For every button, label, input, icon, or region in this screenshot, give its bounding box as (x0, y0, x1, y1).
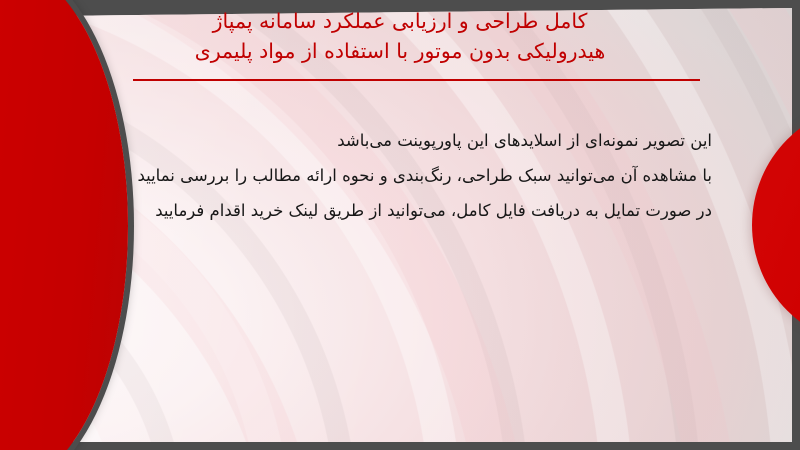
body-line-2: با مشاهده آن می‌توانید سبک طراحی، رنگ‌بن… (72, 158, 712, 193)
slide-title: کامل طراحی و ارزیابی عملکرد سامانه پمپاژ… (0, 6, 800, 66)
slide-title-line-2: هیدرولیکی بدون موتور با استفاده از مواد … (0, 36, 800, 66)
body-line-1: این تصویر نمونه‌ای از اسلایدهای این پاور… (72, 123, 712, 158)
presentation-slide: کامل طراحی و ارزیابی عملکرد سامانه پمپاژ… (0, 0, 800, 450)
body-line-3: در صورت تمایل به دریافت فایل کامل، می‌تو… (72, 193, 712, 228)
title-underline-rule (133, 79, 700, 81)
slide-title-line-1: کامل طراحی و ارزیابی عملکرد سامانه پمپاژ (0, 6, 800, 36)
slide-body-text: این تصویر نمونه‌ای از اسلایدهای این پاور… (72, 123, 712, 228)
